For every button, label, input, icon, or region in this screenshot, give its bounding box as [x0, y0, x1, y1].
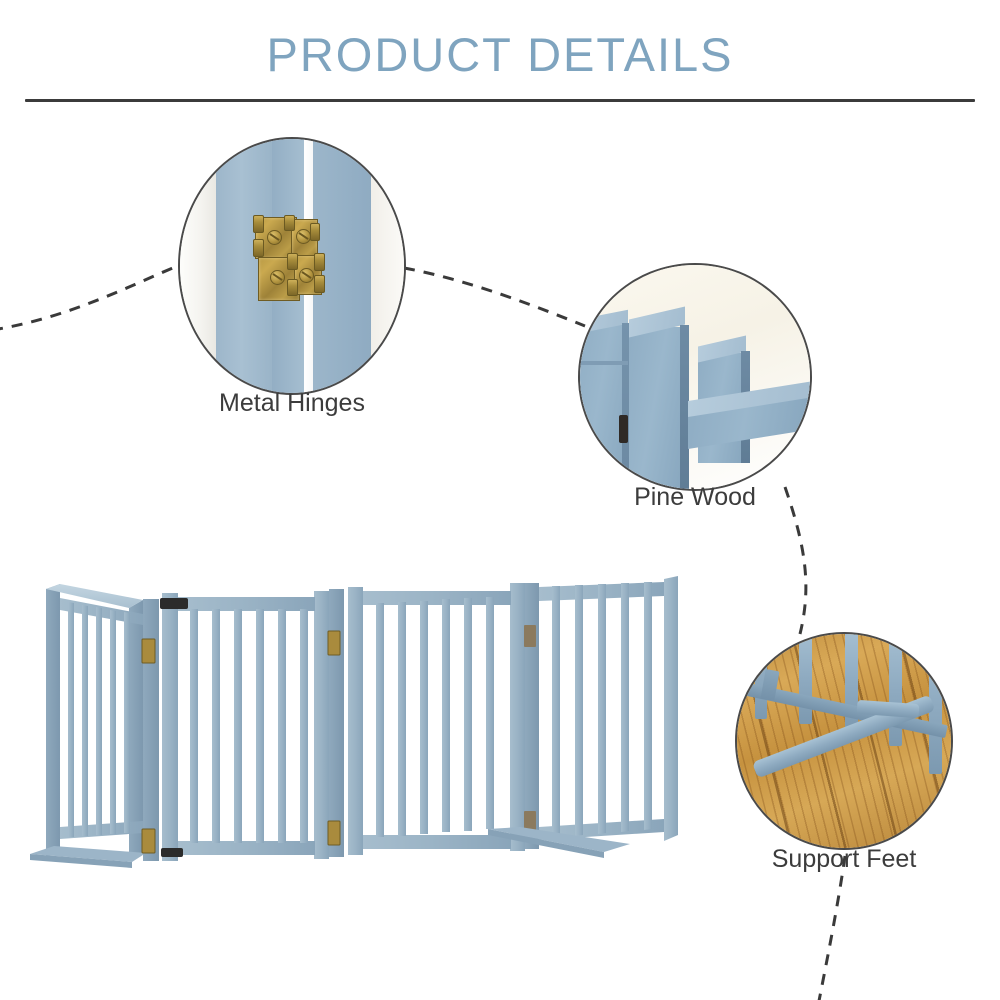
callout-pine-wood-image	[578, 263, 812, 491]
callout-support-feet-label: Support Feet	[735, 845, 953, 874]
title-divider	[25, 99, 975, 102]
gate-panel-3	[328, 583, 525, 857]
callout-metal-hinges-label: Metal Hinges	[178, 389, 406, 418]
connector-feet-to-bottom	[818, 856, 845, 1000]
product-image	[24, 565, 684, 875]
callout-metal-hinges-image	[178, 137, 406, 395]
page-title: PRODUCT DETAILS	[0, 27, 1000, 82]
gate-hinge	[524, 625, 536, 647]
callout-pine-wood-label: Pine Wood	[578, 483, 812, 512]
callout-metal-hinges: Metal Hinges	[178, 137, 406, 395]
gate-panel-1	[30, 584, 146, 868]
gate-bumper-bottom	[161, 848, 183, 857]
gate-hinge	[328, 821, 340, 845]
connector-left-to-hinges	[0, 265, 180, 330]
gate-slat	[889, 632, 902, 746]
gate-slat	[799, 632, 812, 724]
callout-support-feet: Support Feet	[735, 632, 953, 850]
folding-pet-gate-illustration	[24, 565, 684, 875]
callout-pine-wood: Pine Wood	[578, 263, 812, 491]
gate-hinge	[142, 639, 155, 663]
callout-support-feet-image	[735, 632, 953, 850]
panel-highlight-left	[180, 139, 216, 393]
gate-bumper-top	[160, 598, 188, 609]
gate-panel-2	[142, 591, 329, 861]
connector-hinges-to-pinewood	[404, 268, 585, 326]
gate-hinge	[328, 631, 340, 655]
panel-highlight-right	[371, 139, 404, 393]
wood-hinge-speck	[619, 415, 628, 443]
gate-hinge	[142, 829, 155, 853]
product-details-infographic: PRODUCT DETAILS	[0, 0, 1000, 1000]
